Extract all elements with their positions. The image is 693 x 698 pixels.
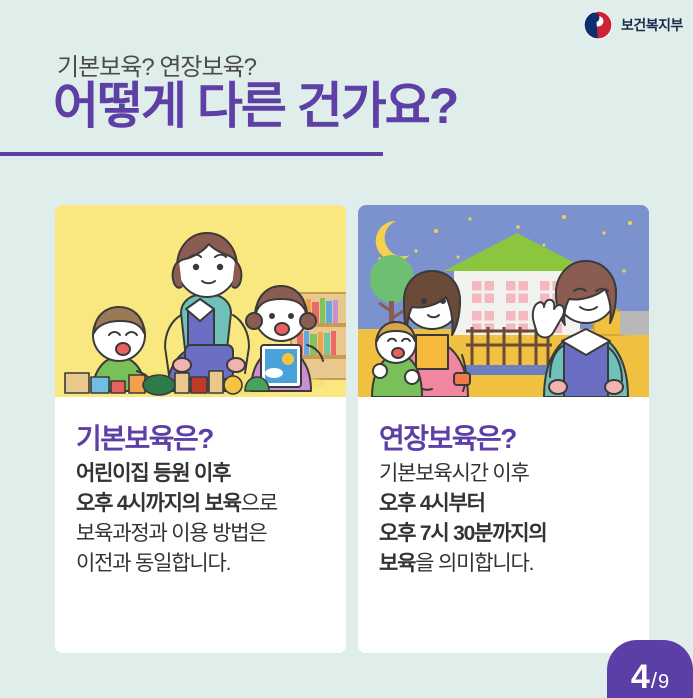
card-line-emphasis: 보육: [379, 552, 415, 575]
page-title: 어떻게 다른 건가요?: [53, 80, 457, 133]
card-extended-care-text: 기본보육시간 이후 오후 4시부터 오후 7시 30분까지의 보육을 의미합니다…: [379, 459, 641, 579]
page-indicator: 4 / 9: [607, 640, 693, 698]
page-current: 4: [631, 660, 650, 694]
card-extended-care-title: 연장보육은?: [379, 417, 516, 457]
card-line: 기본보육시간 이후: [379, 459, 641, 489]
card-basic-care-title: 기본보육은?: [76, 417, 213, 457]
ministry-logo: 보건복지부: [583, 10, 683, 40]
card-basic-care-text: 어린이집 등원 이후 오후 4시까지의 보육으로 보육과정과 이용 방법은 이전…: [76, 459, 338, 579]
card-basic-care-body: 기본보육은? 어린이집 등원 이후 오후 4시까지의 보육으로 보육과정과 이용…: [55, 397, 346, 653]
card-line-emphasis: 오후 4시까지의 보육: [76, 492, 241, 515]
infographic-slide: 보건복지부 기본보육? 연장보육? 어떻게 다른 건가요?: [0, 0, 693, 698]
card-line: 오후 4시부터: [379, 489, 641, 519]
card-line-rest: 을 의미합니다.: [415, 552, 533, 575]
title-underline: [0, 152, 383, 156]
card-line: 오후 4시까지의 보육으로: [76, 489, 338, 519]
daycare-teacher-with-children-illustration: [55, 205, 346, 397]
card-line: 오후 7시 30분까지의: [379, 519, 641, 549]
card-line: 보육을 의미합니다.: [379, 549, 641, 579]
card-extended-care-body: 연장보육은? 기본보육시간 이후 오후 4시부터 오후 7시 30분까지의 보육…: [358, 397, 649, 653]
card-line-rest: 으로: [241, 492, 277, 515]
night-daycare-pickup-illustration: [358, 205, 649, 397]
card-line: 이전과 동일합니다.: [76, 549, 338, 579]
card-line: 보육과정과 이용 방법은: [76, 519, 338, 549]
card-line: 어린이집 등원 이후: [76, 459, 338, 489]
page-separator: /: [651, 670, 657, 692]
korea-taegeuk-logo-icon: [583, 10, 613, 40]
card-basic-care: 기본보육은? 어린이집 등원 이후 오후 4시까지의 보육으로 보육과정과 이용…: [55, 205, 346, 653]
card-extended-care: 연장보육은? 기본보육시간 이후 오후 4시부터 오후 7시 30분까지의 보육…: [358, 205, 649, 653]
eyebrow-text: 기본보육? 연장보육?: [57, 47, 256, 82]
ministry-name-label: 보건복지부: [621, 15, 683, 35]
page-total: 9: [658, 672, 669, 692]
